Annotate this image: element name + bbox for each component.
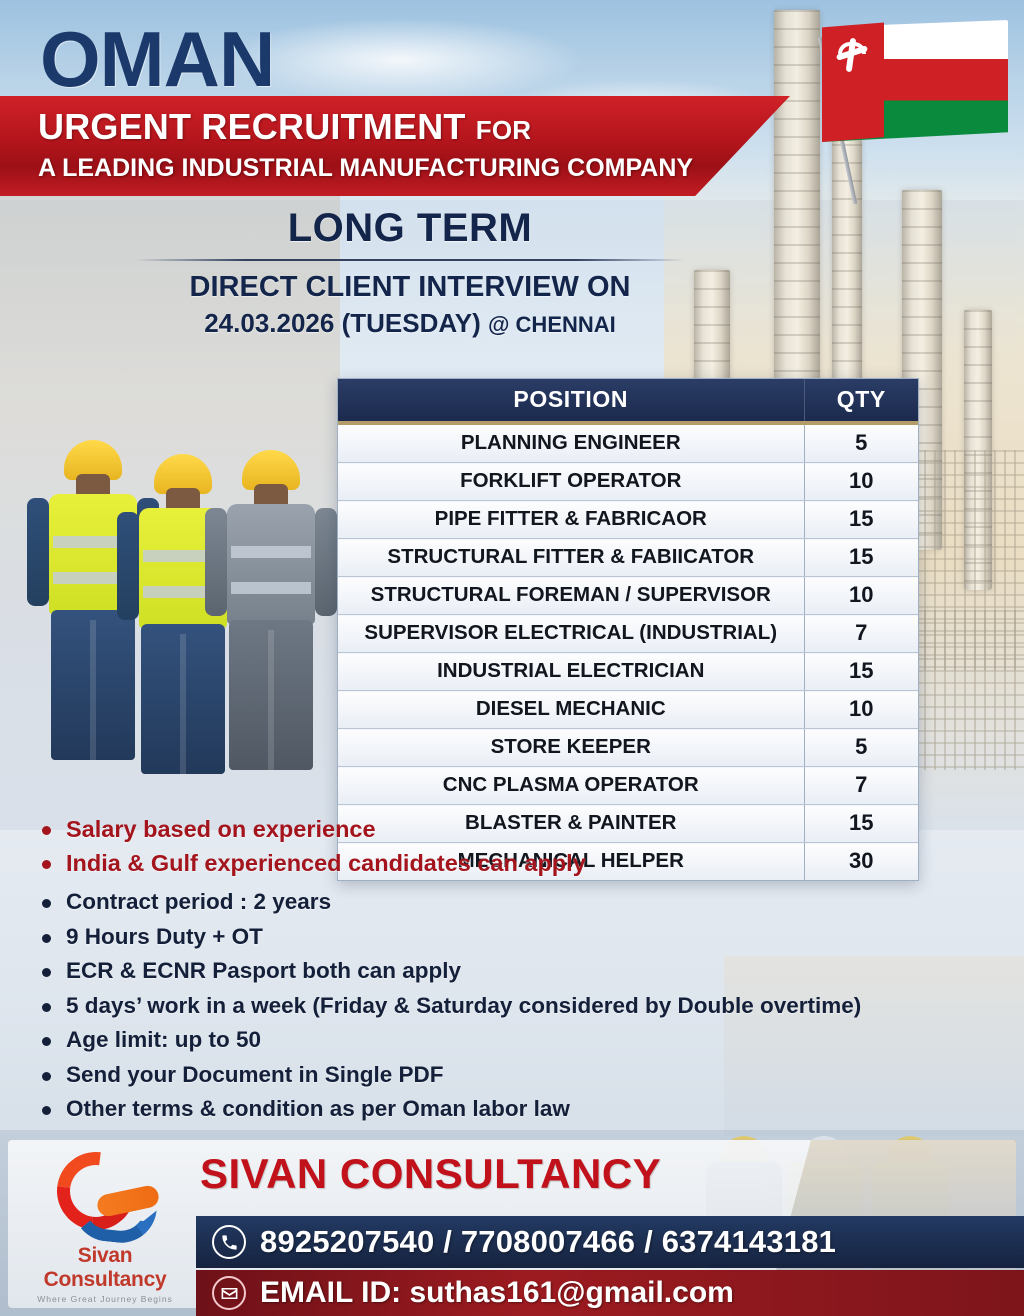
cell-position: STRUCTURAL FOREMAN / SUPERVISOR: [338, 577, 804, 615]
logo-blue-swoosh: [69, 1202, 156, 1247]
banner-headline: URGENT RECRUITMENT FOR: [38, 106, 531, 148]
logo-tagline: Where Great Journey Begins: [22, 1294, 188, 1304]
table-row: PIPE FITTER & FABRICAOR15: [338, 501, 918, 539]
cell-position: CNC PLASMA OPERATOR: [338, 767, 804, 805]
table-row: FORKLIFT OPERATOR10: [338, 463, 918, 501]
interview-details: LONG TERM DIRECT CLIENT INTERVIEW ON 24.…: [135, 206, 685, 339]
email-contact-row[interactable]: EMAIL ID: suthas161@gmail.com: [196, 1270, 1024, 1316]
cell-qty: 10: [804, 463, 918, 501]
banner-headline-suffix: FOR: [476, 115, 531, 145]
banner-subheadline: A LEADING INDUSTRIAL MANUFACTURING COMPA…: [38, 154, 693, 183]
table-row: STRUCTURAL FOREMAN / SUPERVISOR10: [338, 577, 918, 615]
banner-headline-main: URGENT RECRUITMENT: [38, 106, 466, 147]
table-row: DIESEL MECHANIC10: [338, 691, 918, 729]
cell-position: PIPE FITTER & FABRICAOR: [338, 501, 804, 539]
cell-qty: 5: [804, 423, 918, 463]
list-item: Send your Document in Single PDF: [34, 1064, 994, 1087]
envelope-icon: [212, 1276, 246, 1310]
cell-position: PLANNING ENGINEER: [338, 423, 804, 463]
logo-swirl-icon: [45, 1150, 165, 1242]
urgent-recruitment-banner: URGENT RECRUITMENT FOR A LEADING INDUSTR…: [0, 96, 790, 196]
phone-icon: [212, 1225, 246, 1259]
list-item: 9 Hours Duty + OT: [34, 926, 994, 949]
column-header-qty: QTY: [804, 379, 918, 423]
oman-flag-icon: [800, 8, 1015, 208]
interview-date-line: 24.03.2026 (TUESDAY) @ CHENNAI: [135, 308, 685, 339]
table-row: CNC PLASMA OPERATOR7: [338, 767, 918, 805]
list-item: Salary based on experience: [34, 818, 994, 842]
page-title: OMAN: [40, 14, 274, 105]
cell-position: STORE KEEPER: [338, 729, 804, 767]
contract-term-label: LONG TERM: [135, 206, 685, 251]
divider: [135, 259, 685, 261]
phone-numbers: 8925207540 / 7708007466 / 6374143181: [260, 1224, 836, 1260]
table-row: STORE KEEPER5: [338, 729, 918, 767]
cell-qty: 7: [804, 767, 918, 805]
cell-position: SUPERVISOR ELECTRICAL (INDUSTRIAL): [338, 615, 804, 653]
logo-wordmark: Sivan Consultancy: [22, 1244, 188, 1292]
vacancy-table-body: PLANNING ENGINEER5 FORKLIFT OPERATOR10 P…: [338, 423, 918, 880]
table-row: PLANNING ENGINEER5: [338, 423, 918, 463]
table-header-row: POSITION QTY: [338, 379, 918, 423]
khanjar-emblem-icon: [834, 38, 870, 74]
email-address: EMAIL ID: suthas161@gmail.com: [260, 1276, 734, 1310]
table-row: INDUSTRIAL ELECTRICIAN15: [338, 653, 918, 691]
cell-qty: 5: [804, 729, 918, 767]
terms-list: Salary based on experience India & Gulf …: [34, 818, 994, 1133]
footer-contact-bar: Sivan Consultancy Where Great Journey Be…: [0, 1130, 1024, 1316]
interview-date: 24.03.2026 (TUESDAY): [204, 308, 481, 338]
company-logo: Sivan Consultancy Where Great Journey Be…: [22, 1150, 188, 1298]
interview-headline: DIRECT CLIENT INTERVIEW ON: [135, 271, 685, 304]
list-item: Other terms & condition as per Oman labo…: [34, 1098, 994, 1121]
cell-position: INDUSTRIAL ELECTRICIAN: [338, 653, 804, 691]
list-item: India & Gulf experienced candidates can …: [34, 852, 994, 876]
list-item: 5 days’ work in a week (Friday & Saturda…: [34, 995, 994, 1018]
phone-contact-row[interactable]: 8925207540 / 7708007466 / 6374143181: [196, 1216, 1024, 1268]
list-item: Contract period : 2 years: [34, 891, 994, 914]
consultancy-name: SIVAN CONSULTANCY: [200, 1150, 960, 1212]
cell-qty: 10: [804, 577, 918, 615]
recruitment-poster: OMAN URGENT RECRUITMENT FOR A LEADING IN…: [0, 0, 1024, 1316]
vacancy-table: POSITION QTY PLANNING ENGINEER5 FORKLIFT…: [337, 378, 919, 881]
table-row: STRUCTURAL FITTER & FABIICATOR15: [338, 539, 918, 577]
cell-qty: 15: [804, 653, 918, 691]
cell-qty: 10: [804, 691, 918, 729]
cell-qty: 15: [804, 539, 918, 577]
cell-position: STRUCTURAL FITTER & FABIICATOR: [338, 539, 804, 577]
interview-city: @ CHENNAI: [488, 312, 616, 337]
column-header-position: POSITION: [338, 379, 804, 423]
table-row: SUPERVISOR ELECTRICAL (INDUSTRIAL)7: [338, 615, 918, 653]
cell-position: FORKLIFT OPERATOR: [338, 463, 804, 501]
list-item: ECR & ECNR Pasport both can apply: [34, 960, 994, 983]
list-item: Age limit: up to 50: [34, 1029, 994, 1052]
cell-qty: 7: [804, 615, 918, 653]
cell-qty: 15: [804, 501, 918, 539]
cell-position: DIESEL MECHANIC: [338, 691, 804, 729]
